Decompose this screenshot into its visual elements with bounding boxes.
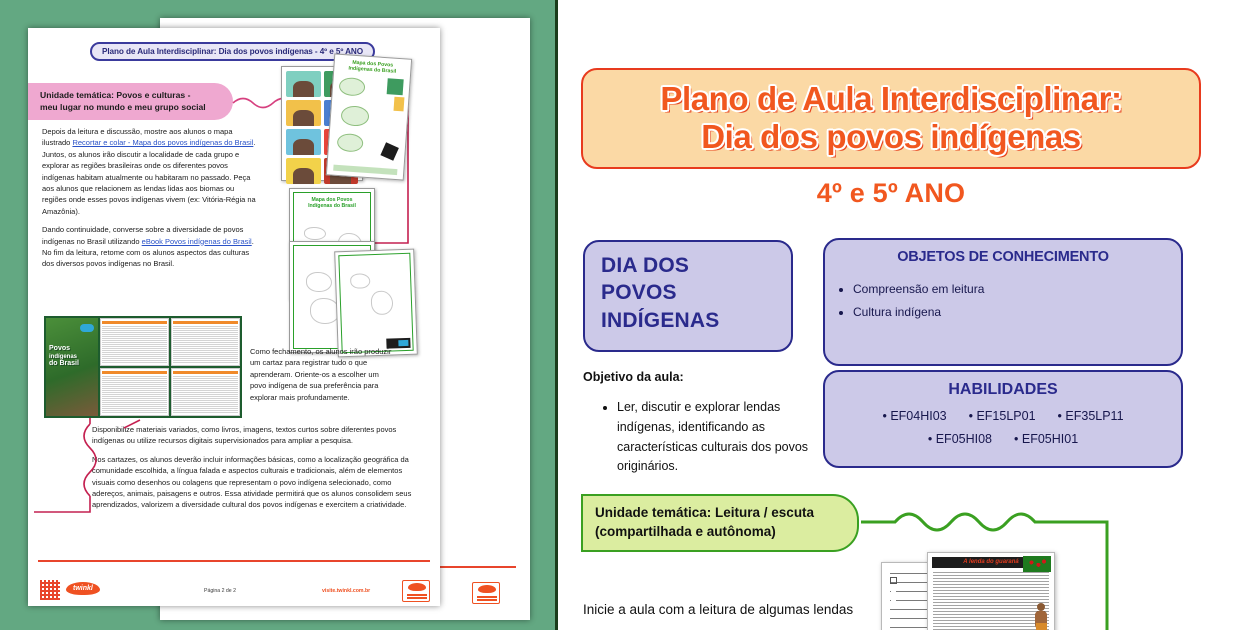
objects-of-knowledge-box: OBJETOS DE CONHECIMENTO Compreensão em l… — [823, 238, 1183, 366]
guarana-berry-illustration — [1023, 556, 1051, 572]
skills-box: HABILIDADES EF04HI03 EF15LP01 EF35LP11 E… — [823, 370, 1183, 468]
map-worksheet-thumbnail-3[interactable] — [334, 249, 418, 358]
ebook-page-spreads — [100, 318, 241, 416]
paragraph-3: Como fechamento, os alunos irão produzir… — [250, 346, 396, 403]
skill-code: EF05HI08 — [928, 432, 992, 446]
person-head — [1037, 603, 1045, 611]
unit-theme-line-2: meu lugar no mundo e meu grupo social — [40, 102, 221, 114]
objective-heading: Objetivo da aula: — [583, 370, 684, 384]
card-cell — [286, 71, 321, 97]
person-skirt — [1036, 623, 1047, 630]
card-cell — [286, 100, 321, 126]
ebook-title-line1: Povos — [49, 345, 70, 352]
page-number-label: Página 2 de 2 — [204, 588, 236, 594]
ebook-cover-title: Povos indígenas do Brasil — [49, 345, 79, 367]
map-outline-blob — [304, 227, 326, 240]
ebook-cover: Povos indígenas do Brasil — [46, 318, 98, 416]
map-footer-strip — [333, 165, 397, 175]
left-document-stack: nar: s CIMENTO EF35LP11 I01 visite.twink… — [0, 0, 555, 630]
unit-theme-green-line-1: Unidade temática: Leitura / escuta — [595, 504, 847, 523]
paragraph-5: Nos cartazes, os alunos deverão incluir … — [92, 454, 418, 511]
paragraph-1: Depois da leitura e discussão, mostre ao… — [42, 126, 260, 217]
card-cell — [286, 158, 321, 184]
main-title-box: Plano de Aula Interdisciplinar: Dia dos … — [581, 68, 1201, 169]
map-bubble — [340, 105, 369, 127]
right-preview-panel: Plano de Aula Interdisciplinar: Dia dos … — [555, 0, 1260, 630]
ebook-title-line3: do Brasil — [49, 360, 79, 367]
day-title-line-1: DIA DOS — [601, 252, 791, 279]
lesson-body-column-1: Depois da leitura e discussão, mostre ao… — [42, 126, 260, 277]
ebook-cover-badge — [80, 324, 94, 332]
objects-list-item: Cultura indígena — [853, 301, 1181, 324]
map-sticker — [380, 142, 398, 160]
qr-code-icon — [40, 580, 60, 600]
twinkl-badge-icon — [472, 582, 500, 604]
map-outline-blob — [371, 290, 394, 315]
link-ebook-povos[interactable]: eBook Povos indígenas do Brasil — [142, 237, 252, 246]
intro-text: Inicie a aula com a leitura de algumas l… — [583, 600, 913, 620]
skill-code: EF05HI01 — [1014, 432, 1078, 446]
footer-rule — [38, 560, 430, 562]
link-mapa-povos[interactable]: Recortar e colar - Mapa dos povos indíge… — [72, 138, 253, 147]
main-title-line-1: Plano de Aula Interdisciplinar: — [593, 80, 1189, 118]
objects-list: Compreensão em leitura Cultura indígena — [853, 278, 1181, 325]
ebook-page — [171, 318, 241, 366]
unit-theme-line-1: Unidade temática: Povos e culturas - — [40, 90, 221, 102]
card-cell — [286, 129, 321, 155]
day-title-box: DIA DOS POVOS INDÍGENAS — [583, 240, 793, 352]
grade-label: 4º e 5º ANO — [581, 178, 1201, 209]
p1-text-b: . Juntos, os alunos irão discutir a loca… — [42, 138, 256, 215]
twinkl-logo[interactable]: twinkl — [66, 582, 100, 595]
skill-code: EF04HI03 — [882, 409, 946, 423]
illustrated-map-thumbnail[interactable]: Mapa dos Povos Indígenas do Brasil — [326, 53, 412, 180]
lesson-body-column-2: Como fechamento, os alunos irão produzir… — [250, 346, 396, 410]
map-bubble — [337, 133, 364, 153]
indigenous-person-illustration — [1035, 603, 1048, 630]
day-title-line-3: INDÍGENAS — [601, 307, 791, 334]
objective-list-item: Ler, discutir e explorar lendas indígena… — [617, 398, 825, 477]
map-outline-blob — [306, 272, 332, 292]
guarana-body-text-lines — [933, 572, 1049, 630]
paragraph-4: Disponibilize materiais variados, como l… — [92, 424, 418, 447]
lesson-plan-title-pill: Plano de Aula Interdisciplinar: Dia dos … — [90, 42, 375, 61]
unit-theme-green-line-2: (compartilhada e autônoma) — [595, 523, 847, 542]
objects-list-item: Compreensão em leitura — [853, 278, 1181, 301]
unit-theme-pill-green: Unidade temática: Leitura / escuta (comp… — [581, 494, 859, 552]
ebook-page — [100, 368, 170, 416]
map-thumb-title: Mapa dos Povos Indígenas do Brasil — [334, 58, 411, 76]
ebook-title-line2: indígenas — [49, 354, 77, 360]
map-sticker — [393, 97, 404, 112]
twinkl-badge-icon — [402, 580, 430, 602]
map-worksheet-title: Mapa dos Povos Indígenas do Brasil — [290, 197, 374, 209]
worksheet-checkbox[interactable] — [890, 577, 897, 584]
map-worksheet-title-line2: Indígenas do Brasil — [290, 203, 374, 209]
skills-row-1: EF04HI03 EF15LP01 EF35LP11 — [825, 409, 1181, 423]
guarana-legend-thumbnail[interactable]: A lenda do guaraná — [927, 552, 1055, 630]
skills-heading: HABILIDADES — [825, 381, 1181, 399]
skill-code: EF35LP11 — [1058, 409, 1124, 423]
objects-heading: OBJETOS DE CONHECIMENTO — [825, 249, 1181, 265]
skill-code: EF15LP01 — [969, 409, 1036, 423]
ebook-page — [100, 318, 170, 366]
lesson-body-column-3: Disponibilize materiais variados, como l… — [92, 424, 418, 518]
skills-row-2: EF05HI08 EF05HI01 — [825, 432, 1181, 446]
map-bubble — [338, 77, 365, 97]
unit-theme-pill: Unidade temática: Povos e culturas - meu… — [28, 83, 233, 120]
map-sticker — [387, 78, 404, 95]
ebook-page — [171, 368, 241, 416]
paragraph-2: Dando continuidade, converse sobre a div… — [42, 224, 260, 270]
day-title-line-2: POVOS — [601, 279, 791, 306]
document-page-front[interactable]: Plano de Aula Interdisciplinar: Dia dos … — [28, 28, 440, 606]
main-title-line-2: Dia dos povos indígenas — [593, 118, 1189, 156]
footer-website-link[interactable]: visite.twinkl.com.br — [322, 588, 370, 594]
objective-list: Ler, discutir e explorar lendas indígena… — [603, 398, 825, 477]
ebook-thumbnail[interactable]: Povos indígenas do Brasil — [44, 316, 242, 418]
map-worksheet-badge-accent — [398, 340, 408, 346]
